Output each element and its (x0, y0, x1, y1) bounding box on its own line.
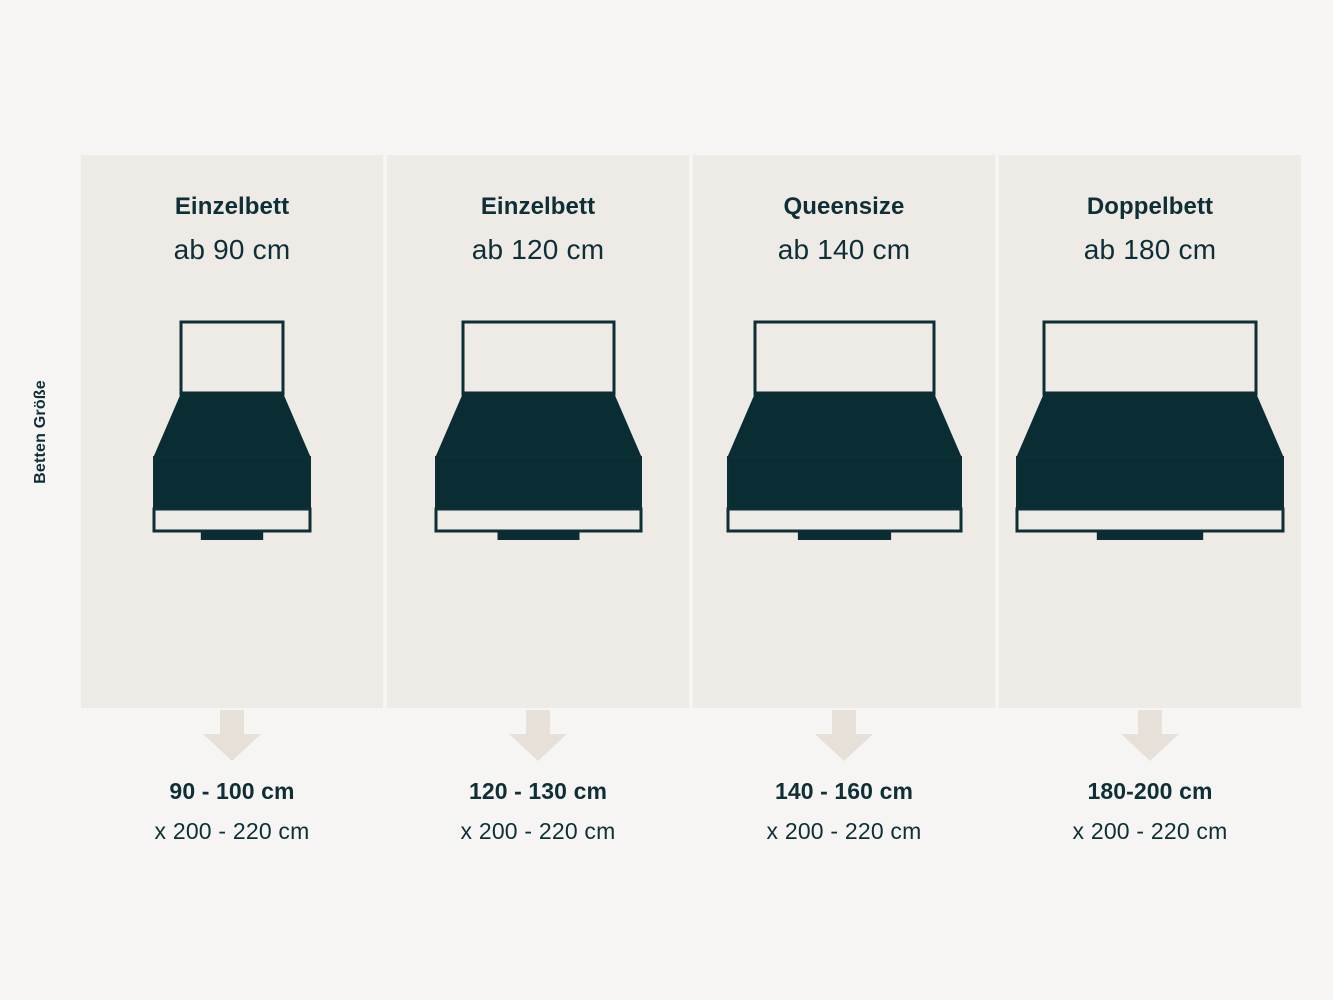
bed-foot (1097, 531, 1203, 540)
bed-foot (201, 531, 263, 540)
bed-front-view-icon (724, 320, 965, 544)
arrow-cell (387, 708, 689, 770)
caption-dimension-length: x 200 - 220 cm (999, 818, 1301, 845)
bed-base-strip (436, 509, 641, 531)
caption-cell: 180-200 cm x 200 - 220 cm (999, 778, 1301, 845)
bed-illustration (693, 320, 995, 544)
bed-mattress-top (154, 392, 310, 457)
bed-illustration (387, 320, 689, 544)
panel-subtitle: ab 120 cm (387, 234, 689, 266)
bed-base-band (436, 457, 641, 509)
bed-front-view-icon (150, 320, 314, 544)
caption-dimension-width: 120 - 130 cm (387, 778, 689, 805)
bed-base-band (154, 457, 310, 509)
caption-dimension-length: x 200 - 220 cm (693, 818, 995, 845)
bed-mattress-top (728, 392, 961, 457)
panel-subtitle: ab 90 cm (81, 234, 383, 266)
caption-dimension-length: x 200 - 220 cm (81, 818, 383, 845)
arrow-row (81, 708, 1301, 770)
axis-label: Betten Größe (0, 155, 81, 708)
panel-title: Doppelbett (999, 193, 1301, 221)
panel-title: Queensize (693, 193, 995, 221)
arrow-down-icon (201, 708, 263, 764)
arrow-down-icon (1119, 708, 1181, 764)
caption-dimension-width: 140 - 160 cm (693, 778, 995, 805)
bed-base-strip (1017, 509, 1283, 531)
panel-title: Einzelbett (81, 193, 383, 221)
arrow-cell (999, 708, 1301, 770)
bed-size-panel[interactable]: Queensize ab 140 cm (693, 155, 995, 708)
panel-heading: Einzelbett ab 120 cm (387, 193, 689, 266)
bed-base-band (1017, 457, 1283, 509)
panel-subtitle: ab 180 cm (999, 234, 1301, 266)
caption-cell: 140 - 160 cm x 200 - 220 cm (693, 778, 995, 845)
bed-front-view-icon (1013, 320, 1287, 544)
bed-mattress-top (1017, 392, 1283, 457)
bed-size-panel-row: Einzelbett ab 90 cm Einzelbett ab 120 cm… (81, 155, 1301, 708)
bed-front-view-icon (432, 320, 645, 544)
bed-base-strip (154, 509, 310, 531)
caption-row: 90 - 100 cm x 200 - 220 cm 120 - 130 cm … (81, 778, 1301, 845)
axis-label-text: Betten Größe (32, 380, 50, 484)
arrow-down-icon (813, 708, 875, 764)
caption-dimension-width: 90 - 100 cm (81, 778, 383, 805)
bed-headboard (181, 322, 283, 394)
bed-foot (497, 531, 579, 540)
caption-dimension-width: 180-200 cm (999, 778, 1301, 805)
bed-illustration (999, 320, 1301, 544)
bed-size-panel[interactable]: Doppelbett ab 180 cm (999, 155, 1301, 708)
bed-foot (797, 531, 890, 540)
bed-headboard (755, 322, 934, 394)
panel-heading: Einzelbett ab 90 cm (81, 193, 383, 266)
arrow-down-icon (507, 708, 569, 764)
bed-headboard (1044, 322, 1256, 394)
panel-heading: Doppelbett ab 180 cm (999, 193, 1301, 266)
caption-dimension-length: x 200 - 220 cm (387, 818, 689, 845)
bed-size-panel[interactable]: Einzelbett ab 90 cm (81, 155, 383, 708)
bed-illustration (81, 320, 383, 544)
arrow-cell (693, 708, 995, 770)
bed-base-band (728, 457, 961, 509)
bed-base-strip (728, 509, 961, 531)
panel-heading: Queensize ab 140 cm (693, 193, 995, 266)
panel-title: Einzelbett (387, 193, 689, 221)
caption-cell: 90 - 100 cm x 200 - 220 cm (81, 778, 383, 845)
panel-subtitle: ab 140 cm (693, 234, 995, 266)
bed-headboard (463, 322, 614, 394)
caption-cell: 120 - 130 cm x 200 - 220 cm (387, 778, 689, 845)
bed-size-panel[interactable]: Einzelbett ab 120 cm (387, 155, 689, 708)
bed-mattress-top (436, 392, 641, 457)
arrow-cell (81, 708, 383, 770)
